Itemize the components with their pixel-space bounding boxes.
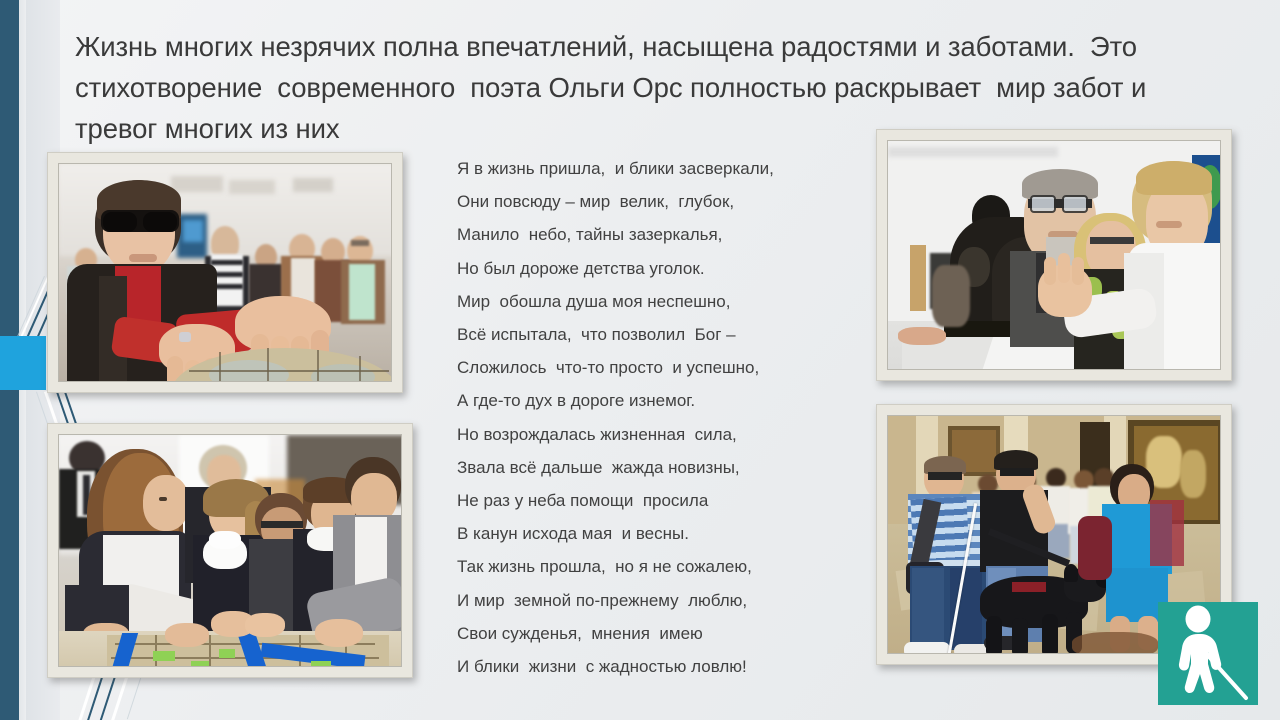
poem-line: Свои сужденья, мнения имею — [457, 617, 857, 650]
photo-woman-tactile-globe — [59, 164, 391, 381]
photo-frame-boy-bronze-sculpture — [876, 129, 1232, 381]
poem-line: Не раз у неба помощи просила — [457, 484, 857, 517]
photo-mat — [887, 140, 1221, 370]
photo-boy-bronze-sculpture — [888, 141, 1220, 369]
poem-line: И блики жизни с жадностью ловлю! — [457, 650, 857, 683]
poem-line: Мир обошла душа моя неспешно, — [457, 285, 857, 318]
poem-line: Они повсюду – мир велик, глубок, — [457, 185, 857, 218]
blind-person-with-cane-symbol — [1158, 602, 1258, 705]
photo-mat — [58, 163, 392, 382]
poem-line: Но возрождалась жизненная сила, — [457, 418, 857, 451]
photo-frame-woman-tactile-globe — [47, 152, 403, 393]
photo-mat — [58, 434, 402, 667]
poem-line: Сложилось что-то просто и успешно, — [457, 351, 857, 384]
accent-square — [0, 336, 46, 390]
poem-line: Манило небо, тайны зазеркалья, — [457, 218, 857, 251]
poem-line: И мир земной по-прежнему люблю, — [457, 584, 857, 617]
decor-diagonal-line — [74, 672, 97, 720]
poem-line: А где-то дух в дороге изнемог. — [457, 384, 857, 417]
blind-person-icon — [1158, 602, 1258, 705]
poem-line: Звала всё дальше жажда новизны, — [457, 451, 857, 484]
poem-line: Так жизнь прошла, но я не сожалею, — [457, 550, 857, 583]
poem-line: Но был дороже детства уголок. — [457, 252, 857, 285]
poem-line: В канун исхода мая и весны. — [457, 517, 857, 550]
photo-frame-students-tactile-map — [47, 423, 413, 678]
photo-students-tactile-map — [59, 435, 401, 666]
poem-text-block: Я в жизнь пришла, и блики засверкали, Он… — [457, 152, 857, 683]
slide: Жизнь многих незрячих полна впечатлений,… — [0, 0, 1280, 720]
poem-line: Всё испытала, что позволил Бог – — [457, 318, 857, 351]
poem-line: Я в жизнь пришла, и блики засверкали, — [457, 152, 857, 185]
